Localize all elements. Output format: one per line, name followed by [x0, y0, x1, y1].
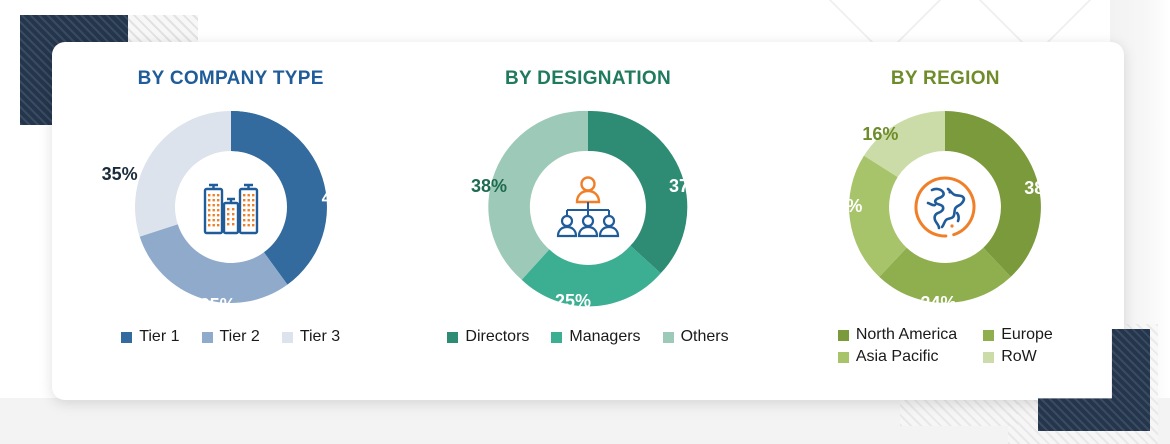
legend-label-row: RoW	[1001, 348, 1037, 366]
legend-item-tier-1[interactable]: Tier 1	[121, 328, 179, 346]
legend-swatch-directors	[447, 332, 458, 343]
donut-chart-designation: 37% 25% 38%	[485, 104, 691, 310]
legend-designation: Directors Managers Others	[447, 328, 728, 346]
legend-swatch-asia-pacific	[838, 352, 849, 363]
legend-item-managers[interactable]: Managers	[551, 328, 640, 346]
legend-label-tier-3: Tier 3	[300, 328, 340, 346]
legend-label-tier-2: Tier 2	[220, 328, 260, 346]
legend-swatch-managers	[551, 332, 562, 343]
legend-item-directors[interactable]: Directors	[447, 328, 529, 346]
legend-company-type: Tier 1 Tier 2 Tier 3	[121, 328, 340, 346]
charts-card: BY COMPANY TYPE 40% 25% 35%	[52, 42, 1124, 400]
legend-item-others[interactable]: Others	[663, 328, 729, 346]
panel-by-designation: BY DESIGNATION 37% 25% 38%	[423, 68, 753, 346]
legend-swatch-others	[663, 332, 674, 343]
buildings-icon	[189, 165, 273, 249]
legend-item-europe[interactable]: Europe	[983, 326, 1053, 344]
legend-swatch-europe	[983, 330, 994, 341]
legend-label-managers: Managers	[569, 328, 640, 346]
legend-swatch-row	[983, 352, 994, 363]
legend-item-asia-pacific[interactable]: Asia Pacific	[838, 348, 939, 366]
org-hierarchy-icon	[546, 165, 630, 249]
donut-chart-region: 38% 24% 22% 16%	[842, 104, 1048, 310]
panel-title-region: BY REGION	[891, 68, 1000, 90]
panel-title-designation: BY DESIGNATION	[505, 68, 671, 90]
donut-slice-europe[interactable]	[880, 248, 1012, 303]
legend-label-directors: Directors	[465, 328, 529, 346]
panel-by-region: BY REGION 38% 24% 22% 16%	[780, 68, 1110, 366]
legend-swatch-tier-2	[202, 332, 213, 343]
legend-label-asia-pacific: Asia Pacific	[856, 348, 939, 366]
legend-swatch-tier-3	[282, 332, 293, 343]
legend-item-row[interactable]: RoW	[983, 348, 1037, 366]
legend-label-europe: Europe	[1001, 326, 1053, 344]
legend-label-tier-1: Tier 1	[139, 328, 179, 346]
globe-icon	[903, 165, 987, 249]
legend-label-north-america: North America	[856, 326, 957, 344]
panel-title-company-type: BY COMPANY TYPE	[138, 68, 324, 90]
panel-by-company-type: BY COMPANY TYPE 40% 25% 35%	[66, 68, 396, 346]
legend-item-tier-2[interactable]: Tier 2	[202, 328, 260, 346]
legend-item-tier-3[interactable]: Tier 3	[282, 328, 340, 346]
donut-chart-company-type: 40% 25% 35%	[128, 104, 334, 310]
legend-label-others: Others	[681, 328, 729, 346]
legend-swatch-north-america	[838, 330, 849, 341]
legend-item-north-america[interactable]: North America	[838, 326, 957, 344]
legend-region: North America Europe Asia Pacific RoW	[838, 326, 1053, 366]
legend-swatch-tier-1	[121, 332, 132, 343]
